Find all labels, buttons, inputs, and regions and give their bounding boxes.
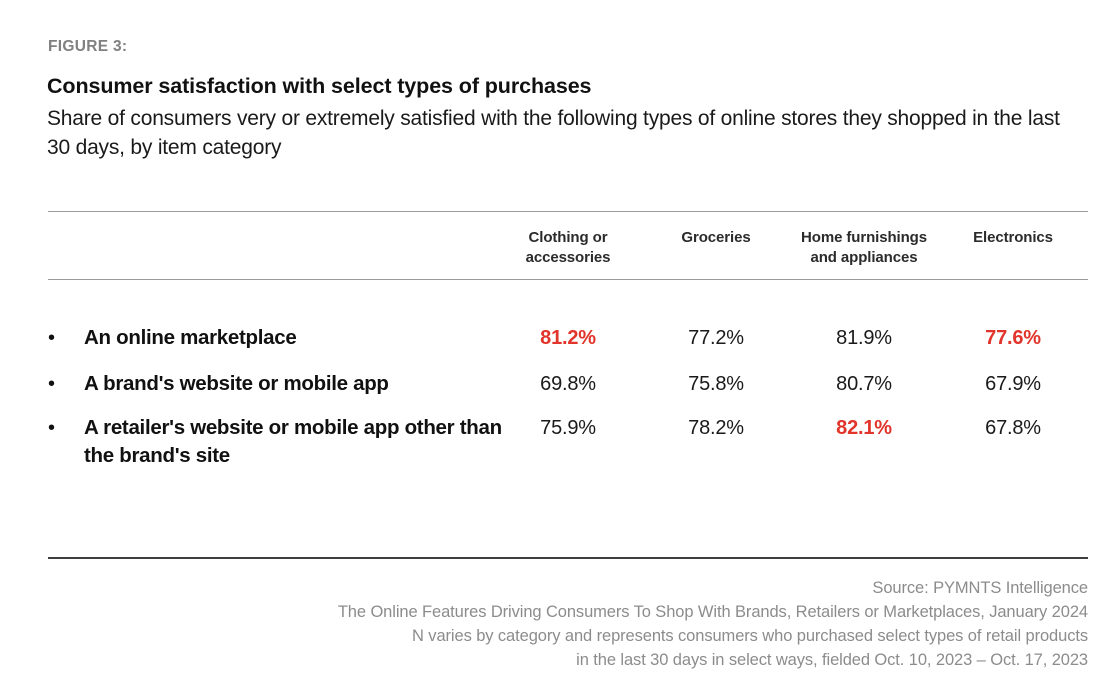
figure-subtitle: Share of consumers very or extremely sat… <box>47 104 1077 162</box>
footnote-line-source: Source: PYMNTS Intelligence <box>48 576 1088 600</box>
figure-label: FIGURE 3: <box>48 38 127 55</box>
figure-title: Consumer satisfaction with select types … <box>47 74 591 99</box>
column-header-home-furnishings: Home furnishings and appliances <box>790 228 938 268</box>
row-label: A brand's website or mobile app <box>84 370 524 398</box>
table-cell: 77.6% <box>939 324 1087 352</box>
column-header-groceries: Groceries <box>642 228 790 248</box>
column-header-line1: Clothing or <box>494 228 642 248</box>
bullet-icon: • <box>48 370 62 398</box>
bullet-icon: • <box>48 414 62 442</box>
figure-page: FIGURE 3: Consumer satisfaction with sel… <box>0 0 1112 688</box>
column-header-clothing: Clothing or accessories <box>494 228 642 268</box>
table-cell: 77.2% <box>642 324 790 352</box>
table-cell: 67.9% <box>939 370 1087 398</box>
column-header-line1: Electronics <box>939 228 1087 248</box>
table-cell: 75.9% <box>494 414 642 442</box>
row-label: A retailer's website or mobile app other… <box>84 414 524 470</box>
table-rule-header-bottom <box>48 279 1088 280</box>
table-cell: 80.7% <box>790 370 938 398</box>
column-header-line2: and appliances <box>790 248 938 268</box>
table-cell: 69.8% <box>494 370 642 398</box>
column-header-line1: Groceries <box>642 228 790 248</box>
column-header-line1: Home furnishings <box>790 228 938 248</box>
row-label: An online marketplace <box>84 324 524 352</box>
table-rule-bottom <box>48 557 1088 559</box>
footnote-line-report: The Online Features Driving Consumers To… <box>48 600 1088 624</box>
table-cell: 82.1% <box>790 414 938 442</box>
table-cell: 75.8% <box>642 370 790 398</box>
table-cell: 81.9% <box>790 324 938 352</box>
table-cell: 67.8% <box>939 414 1087 442</box>
table-cell: 78.2% <box>642 414 790 442</box>
bullet-icon: • <box>48 324 62 352</box>
column-header-electronics: Electronics <box>939 228 1087 248</box>
footnote-line-methodology-1: N varies by category and represents cons… <box>48 624 1088 648</box>
table-rule-top <box>48 211 1088 212</box>
table-cell: 81.2% <box>494 324 642 352</box>
footnote-line-methodology-2: in the last 30 days in select ways, fiel… <box>48 648 1088 672</box>
source-footnote: Source: PYMNTS Intelligence The Online F… <box>48 576 1088 672</box>
column-header-line2: accessories <box>494 248 642 268</box>
